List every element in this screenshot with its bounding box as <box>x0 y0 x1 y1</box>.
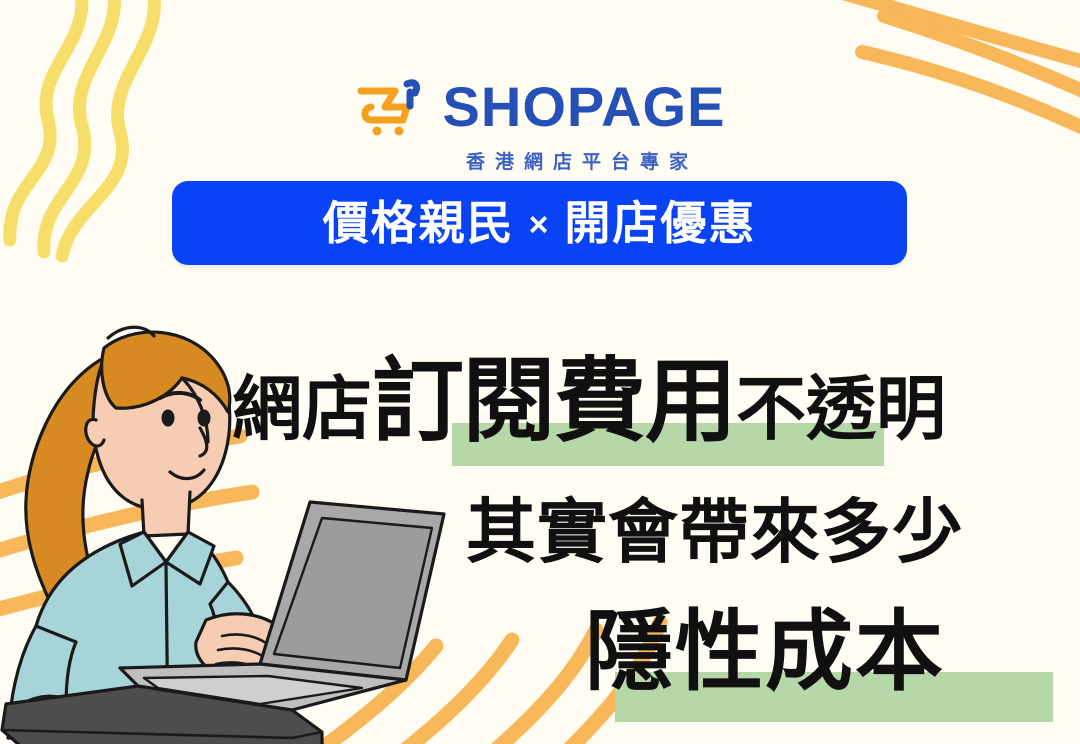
eye-left <box>162 410 175 427</box>
headline-line-1-prefix: 網店 <box>232 368 372 450</box>
eye-right <box>198 410 211 427</box>
headline-line-1-emphasis: 訂閱費用 <box>372 348 736 455</box>
headline-line-1-suffix: 不透明 <box>736 368 946 450</box>
headline-line-1: 網店訂閱費用不透明 <box>232 356 946 448</box>
headline-line-3: 隱性成本 <box>585 608 945 696</box>
promo-poster: SHOPAGE 香港網店平台專家 價格親民×開店優惠 <box>0 0 1080 744</box>
headline-line-2: 其實會帶來多少 <box>466 497 963 567</box>
